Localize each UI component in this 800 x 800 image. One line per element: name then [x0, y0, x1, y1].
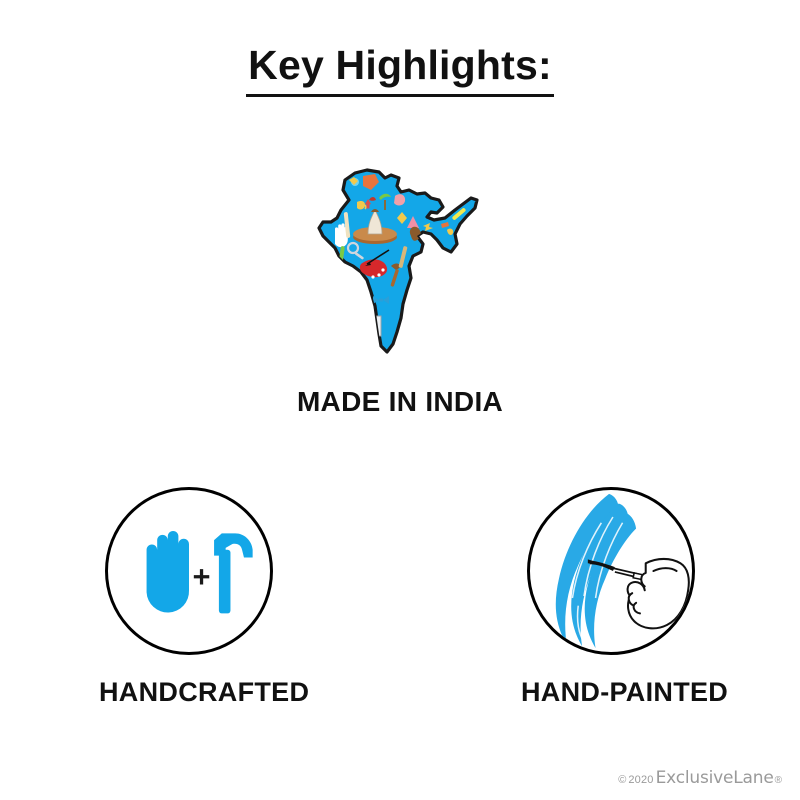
highlight-handcrafted: HANDCRAFTED — [99, 487, 279, 708]
highlight-hand-painted: HAND-PAINTED — [521, 487, 701, 708]
hand-plus-hammer-icon — [108, 490, 270, 652]
copyright-year: 2020 — [628, 774, 653, 786]
handcrafted-badge-circle — [105, 487, 273, 655]
hand-painted-badge-circle — [527, 487, 695, 655]
copyright-icon: © — [618, 774, 626, 786]
page-header: Key Highlights: — [0, 44, 800, 97]
brand-name: ExclusiveLane — [656, 768, 774, 788]
highlight-made-in-india: MADE IN INDIA — [0, 160, 800, 418]
india-map-icon — [305, 160, 495, 358]
registered-trademark-icon: ® — [775, 775, 782, 786]
highlight-badges-row: HANDCRAFTED — [0, 487, 800, 708]
copyright-footer: © 2020 ExclusiveLane ® — [618, 768, 782, 788]
highlight-label-hand-painted: HAND-PAINTED — [521, 677, 701, 708]
hand-paintbrush-icon — [530, 490, 692, 652]
highlight-label-made-in-india: MADE IN INDIA — [0, 386, 800, 418]
highlight-label-handcrafted: HANDCRAFTED — [99, 677, 279, 708]
page-title: Key Highlights: — [246, 44, 554, 97]
